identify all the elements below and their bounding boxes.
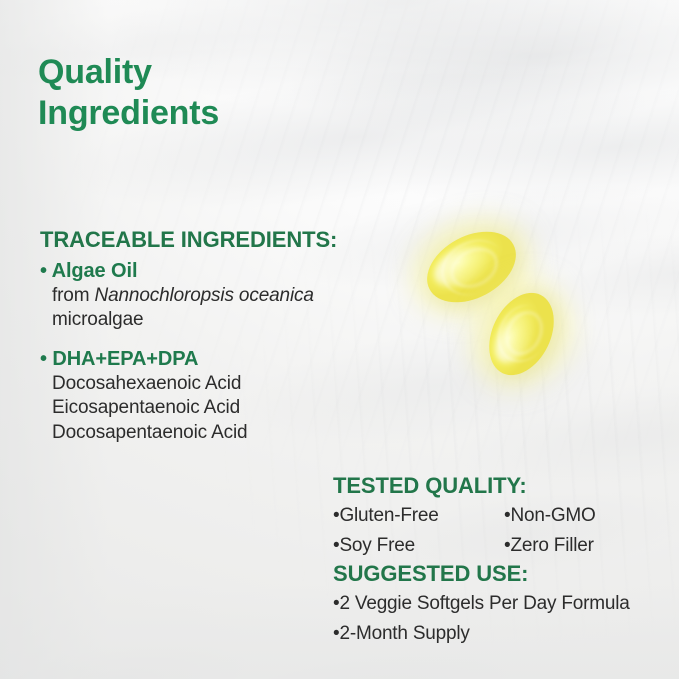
list-item: •Gluten-Free — [333, 503, 504, 528]
ingredient-source-line-2: microalgae — [40, 308, 340, 333]
suggested-use-list: •2 Veggie Softgels Per Day Formula •2-Mo… — [333, 591, 668, 646]
tested-quality-column-left: •Gluten-Free •Soy Free — [333, 503, 504, 558]
list-item: •Soy Free — [333, 533, 504, 558]
ingredient-bullet-dha-epa-dpa: • DHA+EPA+DPA — [40, 348, 340, 372]
source-species-name: Nannochloropsis oceanica — [95, 285, 314, 306]
ingredient-source-line-1: from Nannochloropsis oceanica — [40, 284, 340, 309]
ingredient-bullet-algae-oil: • Algae Oil — [40, 260, 340, 284]
dha-epa-dpa-section: • DHA+EPA+DPA Docosahexaenoic Acid Eicos… — [40, 348, 340, 446]
source-prefix: from — [52, 285, 95, 306]
traceable-ingredients-heading: TRACEABLE INGREDIENTS: — [40, 228, 340, 252]
traceable-ingredients-section: TRACEABLE INGREDIENTS: • Algae Oil from … — [40, 228, 340, 333]
suggested-use-heading: SUGGESTED USE: — [333, 562, 668, 586]
list-item: •2-Month Supply — [333, 621, 668, 646]
tested-quality-list: •Gluten-Free •Soy Free •Non-GMO •Zero Fi… — [333, 503, 663, 558]
softgel-seam — [432, 229, 513, 305]
softgel-seam — [488, 296, 558, 371]
suggested-use-section: SUGGESTED USE: •2 Veggie Softgels Per Da… — [333, 562, 668, 646]
list-item: •Non-GMO — [504, 503, 596, 528]
quality-ingredients-infographic: Quality Ingredients TRACEABLE INGREDIENT… — [0, 0, 679, 679]
softgel-capsule-bottom — [476, 282, 566, 386]
dha-full-name-line-2: Eicosapentaenoic Acid — [40, 396, 340, 421]
page-title: Quality Ingredients — [38, 52, 219, 135]
dha-full-name-line-1: Docosahexaenoic Acid — [40, 372, 340, 397]
tested-quality-section: TESTED QUALITY: •Gluten-Free •Soy Free •… — [333, 474, 663, 558]
list-item: •Zero Filler — [504, 533, 596, 558]
list-item: •2 Veggie Softgels Per Day Formula — [333, 591, 668, 616]
dha-full-name-line-3: Docosapentaenoic Acid — [40, 421, 340, 446]
tested-quality-heading: TESTED QUALITY: — [333, 474, 663, 498]
tested-quality-column-right: •Non-GMO •Zero Filler — [504, 503, 596, 558]
